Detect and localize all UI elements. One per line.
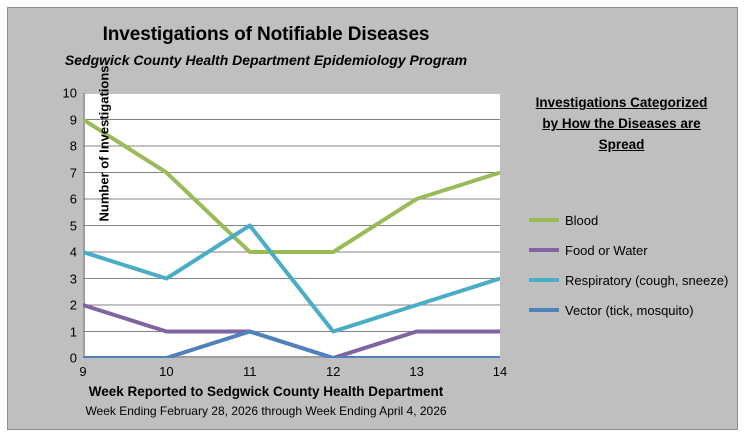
- x-tick-label: 13: [409, 364, 423, 379]
- y-tick-label: 1: [70, 324, 77, 339]
- chart-frame: Investigations of Notifiable Diseases Se…: [7, 7, 738, 430]
- y-tick-label: 4: [70, 245, 77, 260]
- y-tick-label: 2: [70, 298, 77, 313]
- y-tick-label: 3: [70, 271, 77, 286]
- series-line: [83, 332, 500, 359]
- x-tick-label: 14: [493, 364, 507, 379]
- y-axis-title: Number of Investigations: [97, 54, 112, 234]
- legend-swatch-icon: [529, 248, 559, 252]
- plot-svg: [83, 93, 500, 358]
- y-tick-label: 9: [70, 112, 77, 127]
- chart-title: Investigations of Notifiable Diseases: [8, 24, 524, 46]
- y-tick-label: 7: [70, 165, 77, 180]
- plot-wrapper: 012345678910 91011121314 Number of Inves…: [76, 86, 501, 359]
- legend-item-label: Food or Water: [565, 243, 648, 258]
- legend-title-line-2: by How the Diseases are: [521, 113, 722, 134]
- x-tick-label: 11: [243, 364, 257, 379]
- y-tick-label: 8: [70, 139, 77, 154]
- y-tick-label: 6: [70, 192, 77, 207]
- legend-item-label: Respiratory (cough, sneeze): [565, 273, 728, 288]
- x-tick-label: 9: [79, 364, 86, 379]
- y-tick-label: 5: [70, 218, 77, 233]
- legend-title-line-3: Spread: [521, 134, 722, 155]
- x-axis-note: Week Ending February 28, 2026 through We…: [8, 404, 524, 418]
- x-axis-title: Week Reported to Sedgwick County Health …: [8, 384, 524, 399]
- legend-swatch-icon: [529, 218, 559, 222]
- legend-item[interactable]: Food or Water: [529, 235, 744, 265]
- legend-item[interactable]: Respiratory (cough, sneeze): [529, 265, 744, 295]
- legend-title-line-1: Investigations Categorized: [521, 92, 722, 113]
- legend-title: Investigations Categorized by How the Di…: [521, 90, 722, 155]
- x-tick-label: 12: [326, 364, 340, 379]
- legend-item[interactable]: Blood: [529, 205, 744, 235]
- y-tick-label: 0: [70, 351, 77, 366]
- y-tick-label: 10: [63, 86, 77, 101]
- legend-item-label: Vector (tick, mosquito): [565, 303, 694, 318]
- chart-subtitle: Sedgwick County Health Department Epidem…: [8, 52, 524, 68]
- legend-item[interactable]: Vector (tick, mosquito): [529, 295, 744, 325]
- legend-swatch-icon: [529, 308, 559, 312]
- series-line: [83, 120, 500, 253]
- legend-item-label: Blood: [565, 213, 598, 228]
- chart-screenshot: Investigations of Notifiable Diseases Se…: [0, 0, 746, 437]
- legend: BloodFood or WaterRespiratory (cough, sn…: [529, 205, 744, 325]
- x-tick-label: 10: [159, 364, 173, 379]
- legend-swatch-icon: [529, 278, 559, 282]
